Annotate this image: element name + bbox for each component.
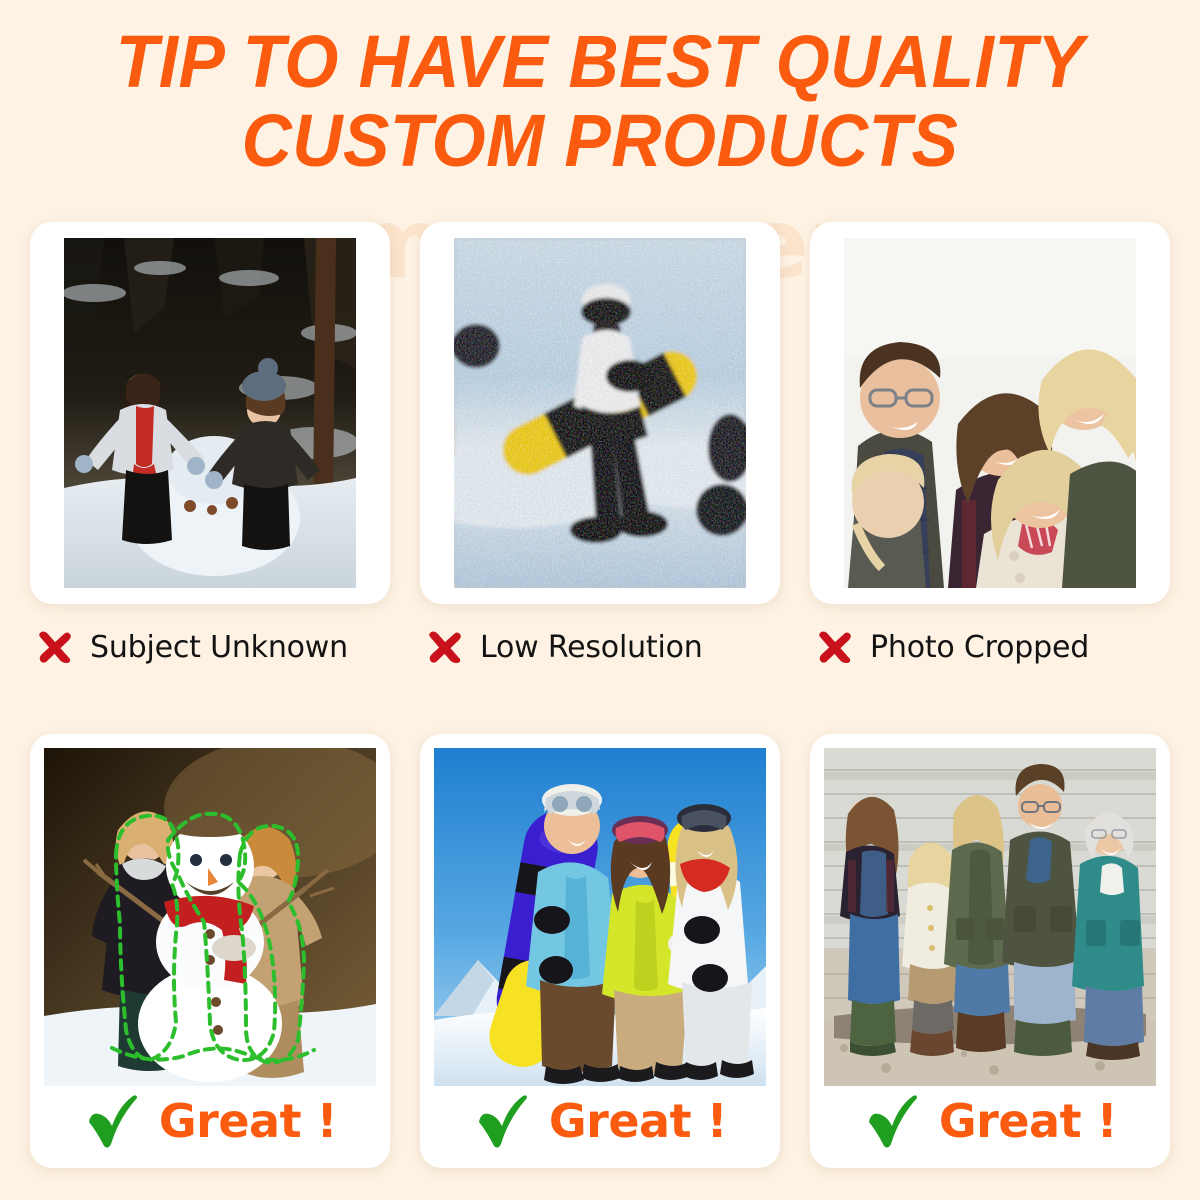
row-good-examples: Great ! — [0, 734, 1200, 1168]
example-cell-great-snowboarders: Great ! — [420, 734, 780, 1168]
label-great-3: Great ! — [824, 1086, 1156, 1162]
label-text: Subject Unknown — [90, 630, 348, 665]
examples-grid: Subject Unknown — [0, 222, 1200, 1168]
example-cell-photo-cropped: Photo Cropped — [810, 222, 1170, 668]
photo-card — [420, 222, 780, 604]
label-text: Great ! — [939, 1094, 1117, 1148]
label-low-resolution: Low Resolution — [420, 626, 703, 668]
label-text: Great ! — [159, 1094, 337, 1148]
page-title-line-2: CUSTOM PRODUCTS — [36, 101, 1164, 180]
example-cell-subject-unknown: Subject Unknown — [30, 222, 390, 668]
label-text: Great ! — [549, 1094, 727, 1148]
label-text: Low Resolution — [480, 630, 703, 665]
page-title-line-1: TIP TO HAVE BEST QUALITY — [36, 22, 1164, 101]
photo-card — [30, 222, 390, 604]
check-icon — [473, 1092, 531, 1150]
check-icon — [863, 1092, 921, 1150]
photo-three-snowboarders-blue-sky — [434, 748, 766, 1086]
x-icon — [814, 626, 856, 668]
photo-two-women-building-snowman-dark-forest — [64, 238, 356, 588]
photo-family-of-five-wooden-wall — [824, 748, 1156, 1086]
label-great-1: Great ! — [44, 1086, 376, 1162]
photo-card: Great ! — [420, 734, 780, 1168]
x-icon — [34, 626, 76, 668]
photo-card: Great ! — [30, 734, 390, 1168]
check-icon — [83, 1092, 141, 1150]
photo-card — [810, 222, 1170, 604]
label-photo-cropped: Photo Cropped — [810, 626, 1089, 668]
example-cell-great-snowman: Great ! — [30, 734, 390, 1168]
example-cell-great-family: Great ! — [810, 734, 1170, 1168]
photo-card: Great ! — [810, 734, 1170, 1168]
label-text: Photo Cropped — [870, 630, 1089, 665]
label-great-2: Great ! — [434, 1086, 766, 1162]
label-subject-unknown: Subject Unknown — [30, 626, 348, 668]
x-icon — [424, 626, 466, 668]
page-title: TIP TO HAVE BEST QUALITY CUSTOM PRODUCTS — [36, 22, 1164, 180]
photo-two-women-snowman-outlined — [44, 748, 376, 1086]
row-bad-examples: Subject Unknown — [0, 222, 1200, 668]
photo-low-resolution-snowboarder — [454, 238, 746, 588]
example-cell-low-resolution: Low Resolution — [420, 222, 780, 668]
photo-cropped-family-portrait — [844, 238, 1136, 588]
